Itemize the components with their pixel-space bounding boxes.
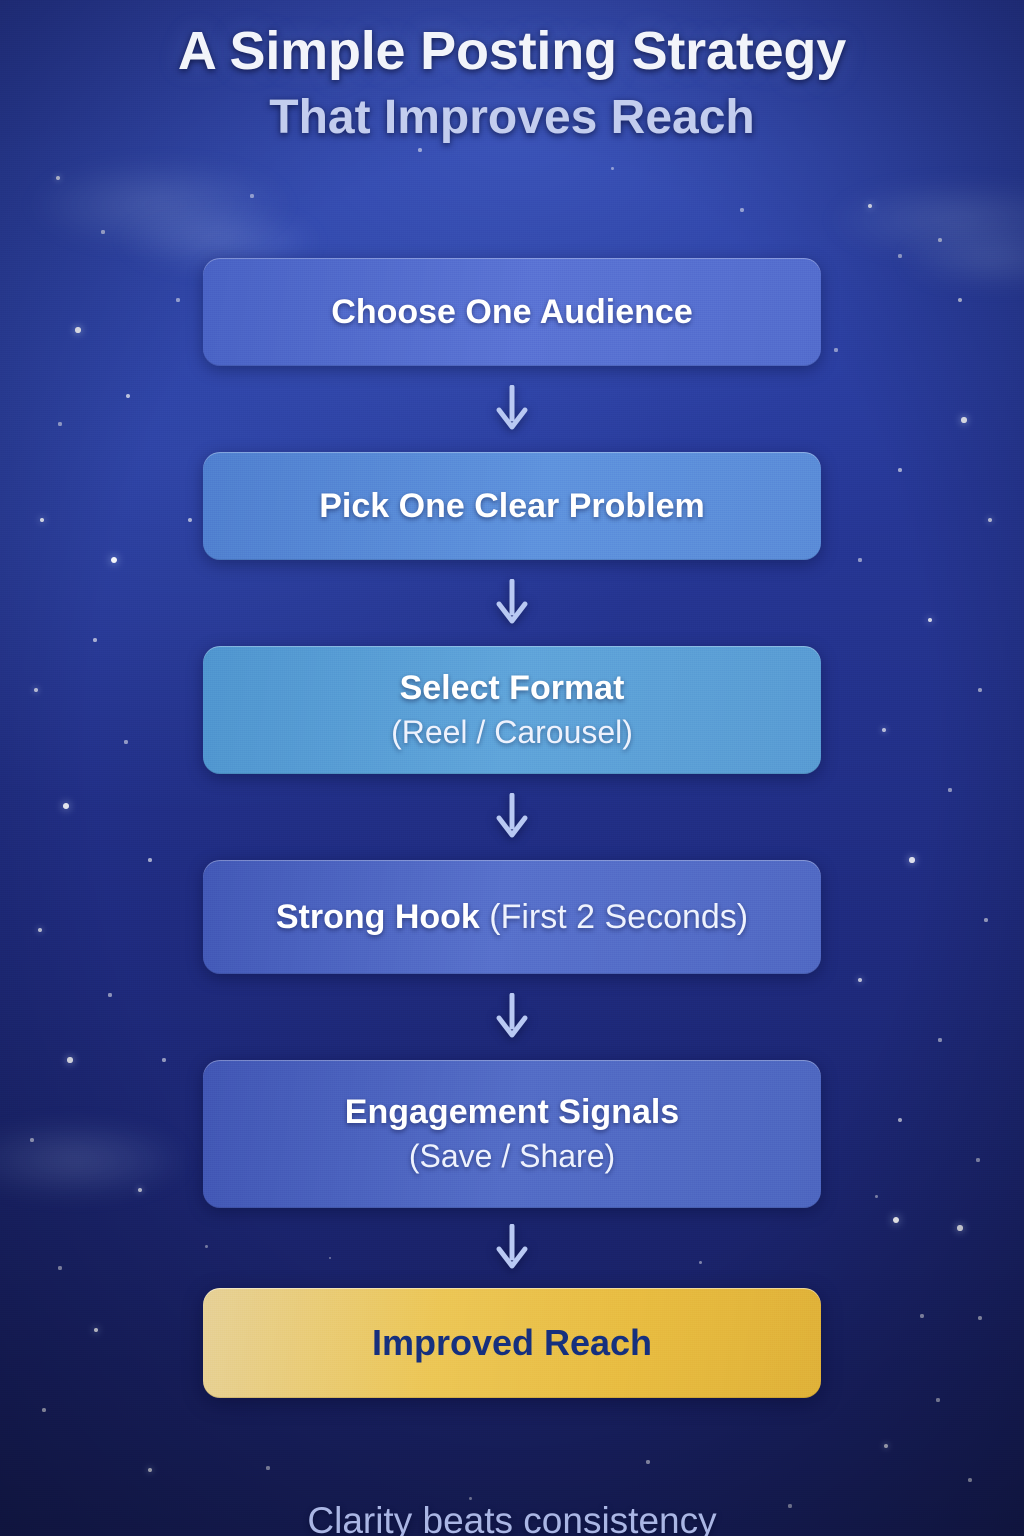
flow-step-subtitle: (Save / Share) (409, 1138, 615, 1174)
star-dot (611, 167, 614, 170)
star-dot (250, 194, 253, 197)
flow-step-title: Strong Hook (276, 898, 480, 936)
page-subtitle: That Improves Reach (0, 80, 1024, 144)
star-dot (148, 1468, 152, 1472)
star-dot (884, 1444, 888, 1448)
star-dot (42, 1408, 46, 1412)
flow-step-engagement-signals[interactable]: Engagement Signals (Save / Share) (203, 1060, 821, 1208)
flow-step-subtitle: (First 2 Seconds) (489, 898, 748, 936)
flow-step-choose-one-audience[interactable]: Choose One Audience (203, 258, 821, 366)
flow-step-subtitle: (Reel / Carousel) (391, 714, 633, 750)
cloud-wisp (830, 180, 1024, 260)
infographic-poster: A Simple Posting Strategy That Improves … (0, 0, 1024, 1536)
arrow-down-icon (0, 974, 1024, 1060)
star-dot (868, 204, 873, 209)
arrow-down-icon (0, 774, 1024, 860)
star-dot (101, 230, 104, 233)
poster-footer: Clarity beats consistency (0, 1501, 1024, 1536)
star-dot (418, 148, 422, 152)
cloud-wisp (30, 160, 290, 250)
arrow-down-icon (0, 1208, 1024, 1288)
flow-step-title: Select Format (400, 669, 625, 708)
star-dot (266, 1466, 269, 1469)
arrow-down-icon (0, 560, 1024, 646)
star-dot (740, 208, 743, 211)
flow-step-select-format[interactable]: Select Format (Reel / Carousel) (203, 646, 821, 774)
footer-tagline: Clarity beats consistency (0, 1501, 1024, 1536)
page-title: A Simple Posting Strategy (0, 0, 1024, 80)
flow-step-title: Pick One Clear Problem (319, 487, 705, 526)
star-dot (968, 1478, 972, 1482)
flow-step-title: Choose One Audience (331, 293, 692, 332)
star-dot (56, 176, 60, 180)
arrow-down-icon (0, 366, 1024, 452)
poster-header: A Simple Posting Strategy That Improves … (0, 0, 1024, 144)
star-dot (938, 238, 942, 242)
flow-step-improved-reach[interactable]: Improved Reach (203, 1288, 821, 1398)
star-dot (936, 1398, 939, 1401)
flow-step-pick-one-clear-problem[interactable]: Pick One Clear Problem (203, 452, 821, 560)
flow-step-title: Improved Reach (372, 1322, 652, 1363)
flow-step-strong-hook[interactable]: Strong Hook (First 2 Seconds) (203, 860, 821, 974)
flowchart: Choose One Audience Pick One Clear Probl… (0, 258, 1024, 1398)
flow-step-title: Engagement Signals (345, 1093, 679, 1132)
star-dot (646, 1460, 649, 1463)
flow-step-title-row: Strong Hook (First 2 Seconds) (276, 898, 748, 937)
